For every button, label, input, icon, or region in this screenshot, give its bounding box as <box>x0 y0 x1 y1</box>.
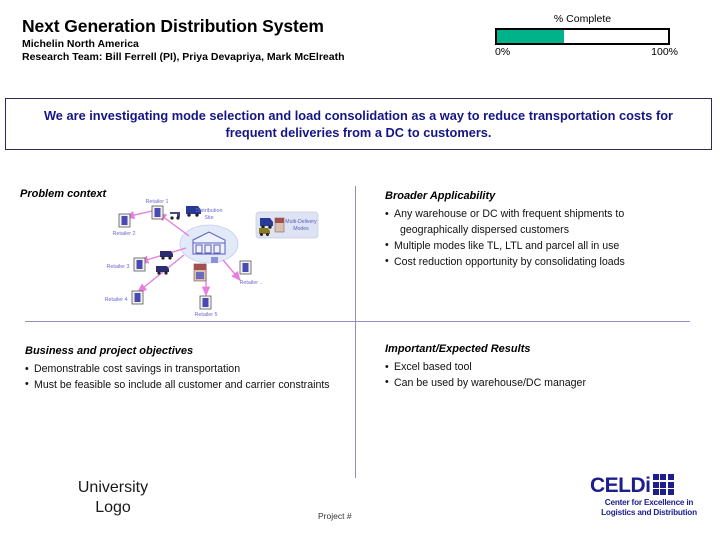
progress-min-label: 0% <box>495 46 510 58</box>
diagram-label-hub-line2: Site <box>204 215 213 221</box>
project-number-label: Project # <box>318 511 352 521</box>
list-item: geographically dispersed customers <box>385 223 695 239</box>
celdi-grid-icon <box>653 474 674 495</box>
progress-bar-track <box>495 28 670 45</box>
list-item: Multiple modes like TL, LTL and parcel a… <box>385 239 695 255</box>
retailer-node-icons <box>119 206 251 309</box>
quadrant-heading-broader-applicability: Broader Applicability <box>385 190 695 202</box>
celdi-tagline-line1: Center for Excellence in <box>590 498 708 508</box>
legend-label-line1: Multi-Delivery <box>285 219 317 225</box>
poster-header: Next Generation Distribution System Mich… <box>22 16 482 64</box>
quadrant-heading-business-objectives: Business and project objectives <box>25 345 335 357</box>
celdi-logo: CELDi Center for Excellence in Logistics… <box>590 474 710 519</box>
courier-icon <box>194 264 206 281</box>
diagram-label-retailer-5: Retailer 5 <box>194 312 217 318</box>
list-item: Excel based tool <box>385 360 695 376</box>
vertical-divider <box>355 186 356 478</box>
headline-banner: We are investigating mode selection and … <box>5 98 712 150</box>
university-logo-line1: University <box>48 478 178 498</box>
expected-results-bullets: Excel based tool Can be used by warehous… <box>385 360 695 392</box>
celdi-logo-mark: CELDi <box>590 474 710 496</box>
celdi-tagline: Center for Excellence in Logistics and D… <box>590 498 708 519</box>
list-item: Any warehouse or DC with frequent shipme… <box>385 207 695 223</box>
list-item: Cost reduction opportunity by consolidat… <box>385 255 695 271</box>
diagram-label-retailer-3: Retailer 3 <box>106 264 129 270</box>
distribution-network-diagram: Distribution Site Retailer 1 Retailer 2 … <box>90 198 320 318</box>
horizontal-divider <box>25 321 690 322</box>
quadrant-expected-results: Important/Expected Results Excel based t… <box>385 343 695 392</box>
multi-delivery-modes-legend: Multi-Delivery Modes <box>256 212 318 238</box>
diagram-label-retailer-1: Retailer 1 <box>145 199 168 205</box>
progress-caption: % Complete <box>495 13 670 25</box>
progress-meter: % Complete 0% 100% <box>495 13 670 60</box>
celdi-wordmark: CELDi <box>590 475 651 496</box>
page-title: Next Generation Distribution System <box>22 16 482 36</box>
quadrant-heading-expected-results: Important/Expected Results <box>385 343 695 355</box>
diagram-label-retailer-n: Retailer .. <box>239 280 262 286</box>
research-team-line: Research Team: Bill Ferrell (PI), Priya … <box>22 51 482 64</box>
quadrant-business-objectives: Business and project objectives Demonstr… <box>25 345 335 394</box>
organization-name: Michelin North America <box>22 38 482 51</box>
headline-text: We are investigating mode selection and … <box>28 107 689 142</box>
business-objectives-bullets: Demonstrable cost savings in transportat… <box>25 362 335 394</box>
progress-max-label: 100% <box>651 46 678 58</box>
diagram-label-retailer-2: Retailer 2 <box>112 231 135 237</box>
university-logo-placeholder: University Logo <box>48 478 178 518</box>
broader-applicability-bullets: Any warehouse or DC with frequent shipme… <box>385 207 695 271</box>
university-logo-line2: Logo <box>48 498 178 518</box>
progress-scale-labels: 0% 100% <box>495 46 670 60</box>
legend-label-line2: Modes <box>293 226 309 232</box>
hub-dock-icon <box>211 257 218 263</box>
list-item: Can be used by warehouse/DC manager <box>385 376 695 392</box>
progress-bar-fill <box>497 30 564 43</box>
diagram-label-hub-line1: Distribution <box>196 208 223 214</box>
quadrant-broader-applicability: Broader Applicability Any warehouse or D… <box>385 190 695 271</box>
diagram-label-retailer-4: Retailer 4 <box>104 297 127 303</box>
celdi-tagline-line2: Logistics and Distribution <box>590 508 708 518</box>
list-item: Must be feasible so include all customer… <box>25 378 335 394</box>
list-item: Demonstrable cost savings in transportat… <box>25 362 335 378</box>
